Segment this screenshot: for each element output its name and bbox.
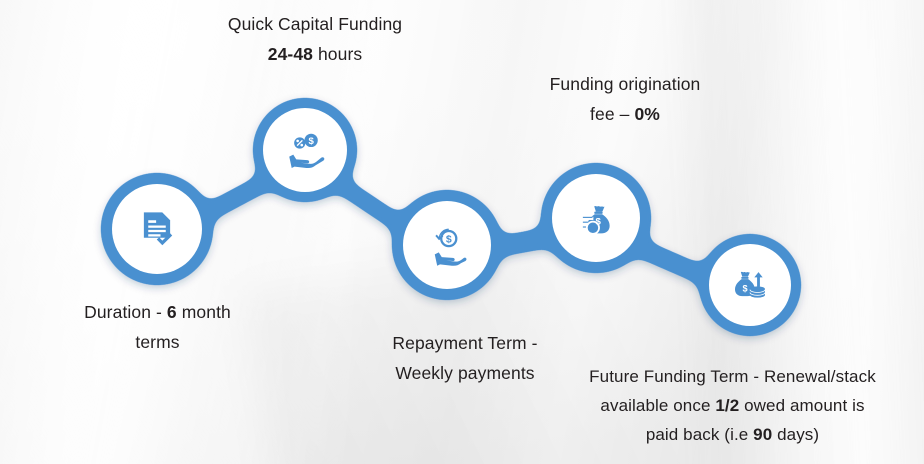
caption-quick-capital-funding: Quick Capital Funding24-48 hours: [150, 9, 480, 69]
caption-funding-origination-fee: Funding originationfee – 0%: [460, 69, 790, 129]
infographic-canvas: $ $ $: [0, 0, 924, 464]
caption-future-funding-term: Future Funding Term - Renewal/stackavail…: [575, 362, 890, 450]
caption-duration: Duration - 6 monthterms: [0, 297, 315, 357]
